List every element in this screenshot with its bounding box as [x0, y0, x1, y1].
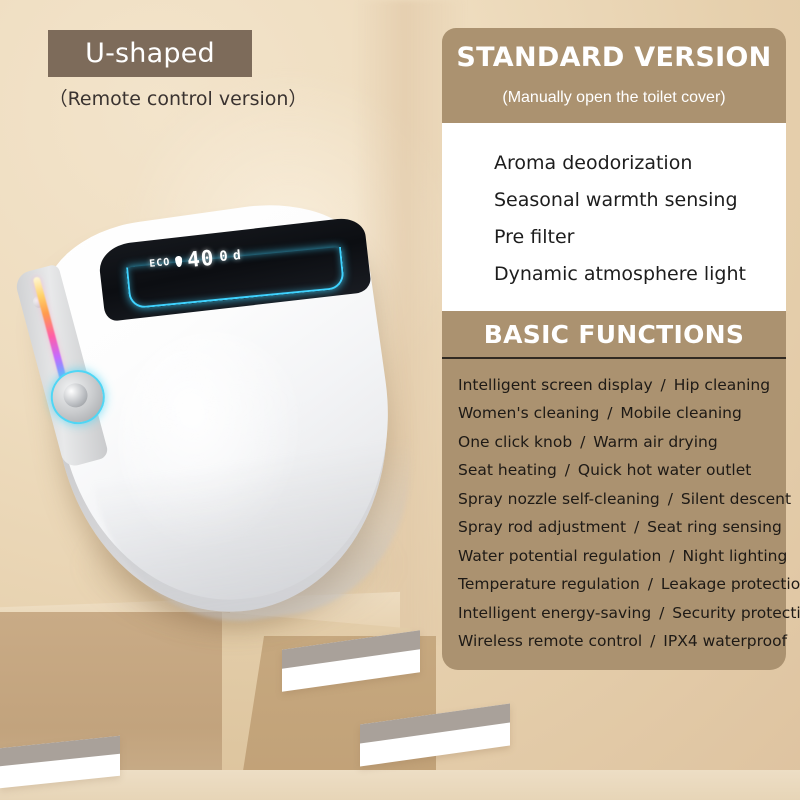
list-item: Aroma deodorization — [494, 145, 786, 182]
function-right: Quick hot water outlet — [578, 461, 751, 479]
basic-functions-title: BASIC FUNCTIONS — [484, 320, 744, 349]
function-separator: / — [653, 376, 674, 394]
list-item: Temperature regulation / Leakage protect… — [458, 571, 786, 600]
rotary-knob-center — [62, 382, 89, 409]
function-left: Intelligent screen display — [458, 376, 653, 394]
function-separator: / — [572, 433, 593, 451]
function-left: Women's cleaning — [458, 404, 599, 422]
product-marketing-image: U-shaped （Remote control version） ECO 40… — [0, 0, 800, 800]
function-separator: / — [661, 547, 682, 565]
function-separator: / — [640, 575, 661, 593]
function-left: One click knob — [458, 433, 572, 451]
function-left: Seat heating — [458, 461, 557, 479]
list-item: Water potential regulation / Night light… — [458, 542, 786, 571]
function-right: Leakage protection — [661, 575, 800, 593]
function-right: Silent descent — [681, 490, 791, 508]
function-right: Security protection — [672, 604, 800, 622]
list-item: Pre filter — [494, 219, 786, 256]
temperature-value: 40 — [186, 246, 215, 273]
function-right: Mobile cleaning — [620, 404, 741, 422]
water-drop-icon — [175, 255, 183, 267]
list-item: Spray nozzle self-cleaning / Silent desc… — [458, 485, 786, 514]
list-item: Women's cleaning / Mobile cleaning — [458, 400, 786, 429]
standard-features-card: Aroma deodorization Seasonal warmth sens… — [442, 123, 786, 311]
list-item: Wireless remote control / IPX4 waterproo… — [458, 628, 786, 657]
shape-label-subtitle: （Remote control version） — [48, 84, 308, 111]
function-left: Intelligent energy-saving — [458, 604, 651, 622]
standard-features-list: Aroma deodorization Seasonal warmth sens… — [442, 145, 786, 293]
basic-functions-banner: BASIC FUNCTIONS — [442, 311, 786, 357]
basic-functions-card: Intelligent screen display / Hip cleanin… — [442, 359, 786, 670]
function-left: Water potential regulation — [458, 547, 661, 565]
function-right: IPX4 waterproof — [663, 632, 787, 650]
standard-version-title: STANDARD VERSION — [452, 42, 776, 73]
product-image-toilet-seat: ECO 40 0 b — [38, 190, 408, 630]
standard-version-subtitle: (Manually open the toilet cover) — [452, 89, 776, 107]
function-right: Night lighting — [682, 547, 787, 565]
list-item: One click knob / Warm air drying — [458, 428, 786, 457]
function-right: Warm air drying — [593, 433, 717, 451]
function-separator: / — [642, 632, 663, 650]
list-item: Seat heating / Quick hot water outlet — [458, 457, 786, 486]
function-separator: / — [626, 518, 647, 536]
list-item: Intelligent screen display / Hip cleanin… — [458, 371, 786, 400]
eco-indicator-label: ECO — [149, 256, 171, 269]
list-item: Seasonal warmth sensing — [494, 182, 786, 219]
function-right: Seat ring sensing — [647, 518, 782, 536]
function-separator: / — [599, 404, 620, 422]
function-separator: / — [660, 490, 681, 508]
function-separator: / — [651, 604, 672, 622]
seat-ring-icon: b — [232, 248, 241, 264]
basic-functions-list: Intelligent screen display / Hip cleanin… — [442, 371, 786, 656]
secondary-value: 0 — [219, 248, 229, 265]
shape-label-text: U-shaped — [85, 38, 215, 69]
standard-version-banner: STANDARD VERSION (Manually open the toil… — [442, 28, 786, 123]
function-separator: / — [557, 461, 578, 479]
list-item: Intelligent energy-saving / Security pro… — [458, 599, 786, 628]
seat-lid-group: ECO 40 0 b — [9, 166, 437, 653]
list-item: Dynamic atmosphere light — [494, 256, 786, 293]
function-right: Hip cleaning — [674, 376, 770, 394]
shape-label-chip: U-shaped — [48, 30, 252, 77]
function-left: Temperature regulation — [458, 575, 640, 593]
function-left: Spray rod adjustment — [458, 518, 626, 536]
floor-surface — [0, 770, 800, 800]
function-left: Wireless remote control — [458, 632, 642, 650]
info-column: STANDARD VERSION (Manually open the toil… — [442, 28, 786, 670]
list-item: Spray rod adjustment / Seat ring sensing — [458, 514, 786, 543]
function-left: Spray nozzle self-cleaning — [458, 490, 660, 508]
